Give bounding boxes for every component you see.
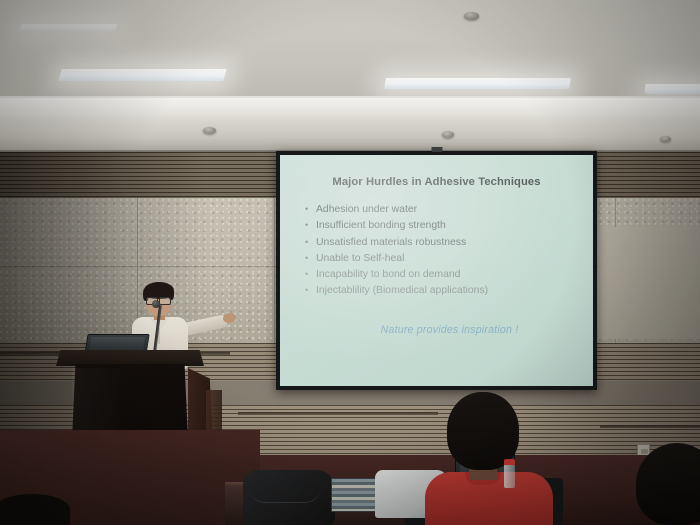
panel-seam: [274, 198, 275, 346]
podium-top-surface: [56, 350, 204, 366]
ceiling-light-panel: [384, 78, 571, 89]
slide-bullet: Unable to Self-heal: [316, 251, 577, 267]
soffit-light-glow: [0, 98, 700, 118]
smoke-detector-icon: [660, 136, 671, 142]
backpack-seam: [249, 481, 321, 503]
smoke-detector-icon: [464, 12, 479, 20]
smoke-detector-icon: [203, 127, 216, 134]
projection-screen[interactable]: Major Hurdles in Adhesive Techniques Adh…: [276, 151, 597, 390]
slide-bullet: Injectablility (Biomedical applications): [316, 283, 577, 299]
slide-title: Major Hurdles in Adhesive Techniques: [296, 176, 577, 188]
smoke-detector-icon: [442, 131, 454, 138]
presenter-hand: [222, 312, 237, 324]
ceiling-light-panel: [18, 24, 117, 31]
water-bottle[interactable]: [504, 464, 515, 488]
slide-bullet: Incapability to bond on demand: [316, 267, 577, 283]
audience-member-red-shirt: [425, 392, 553, 525]
wall-rail: [238, 412, 438, 415]
projected-slide: Major Hurdles in Adhesive Techniques Adh…: [280, 155, 593, 386]
presenter-laptop-screen: [89, 337, 145, 351]
screen-mount-bracket: [431, 147, 442, 152]
slide-bullet: Adhesion under water: [316, 202, 577, 218]
audience-member-left-edge: [0, 494, 70, 525]
slide-bullet: Unsatisfied materials robustness: [316, 235, 577, 251]
ceiling-light-panel: [645, 84, 700, 94]
water-bottle-cap: [504, 459, 515, 465]
slide-tagline: Nature provides inspiration !: [296, 324, 577, 336]
slide-content: Major Hurdles in Adhesive Techniques Adh…: [280, 155, 593, 386]
ceiling-light-panel: [58, 69, 227, 81]
lecture-hall-photo: Major Hurdles in Adhesive Techniques Adh…: [0, 0, 700, 525]
slide-bullet: Insufficient bonding strength: [316, 218, 577, 234]
microphone-icon: [152, 300, 160, 308]
slide-bullet-list: Adhesion under water Insufficient bondin…: [296, 202, 577, 300]
